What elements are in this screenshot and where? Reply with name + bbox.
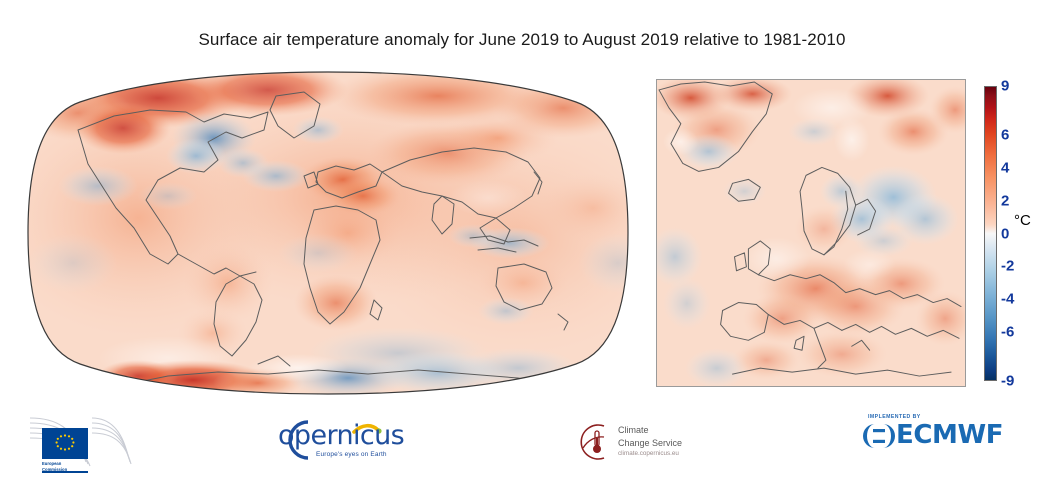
eu-stars-icon <box>42 428 88 459</box>
eu-flag <box>42 428 88 459</box>
c3s-thermometer-icon <box>570 420 616 464</box>
page-title: Surface air temperature anomaly for June… <box>0 30 1044 50</box>
c3s-logo: Climate Change Service climate.copernicu… <box>570 416 730 464</box>
c3s-line1: Climate <box>618 425 649 435</box>
colorbar-tick-6: 6 <box>1001 128 1009 143</box>
colorbar-tick-9: 9 <box>1001 79 1009 94</box>
c3s-name: Climate Change Service <box>618 424 682 450</box>
colorbar-tick-minus6: -6 <box>1001 324 1014 339</box>
colorbar <box>984 86 997 381</box>
c3s-url: climate.copernicus.eu <box>618 450 679 457</box>
ec-underline <box>42 471 88 473</box>
copernicus-wordmark: opernicus <box>278 422 404 449</box>
europe-inset-panel <box>656 79 966 387</box>
ecmwf-wordmark: ECMWF <box>896 422 1003 448</box>
colorbar-units-label: °C <box>1014 212 1031 229</box>
europe-anomaly-field <box>657 80 965 386</box>
ecmwf-logo: IMPLEMENTED BY ECMWF <box>862 414 1012 464</box>
c3s-line2: Change Service <box>618 438 682 448</box>
copernicus-tagline: Europe's eyes on Earth <box>316 451 387 458</box>
colorbar-tick-2: 2 <box>1001 193 1009 208</box>
colorbar-tick-minus4: -4 <box>1001 291 1014 306</box>
colorbar-tick-0: 0 <box>1001 226 1009 241</box>
european-commission-logo: European Commission <box>30 412 142 468</box>
ec-label-line1: European <box>42 461 61 466</box>
colorbar-tick-minus9: -9 <box>1001 374 1014 389</box>
colorbar-tick-minus2: -2 <box>1001 259 1014 274</box>
ecmwf-globe-icon <box>862 423 896 449</box>
colorbar-tick-4: 4 <box>1001 161 1009 176</box>
world-map-panel <box>18 68 638 398</box>
copernicus-logo: opernicus Europe's eyes on Earth <box>278 416 418 464</box>
logo-bar: European Commission opernicus Europe's e… <box>0 404 1044 478</box>
